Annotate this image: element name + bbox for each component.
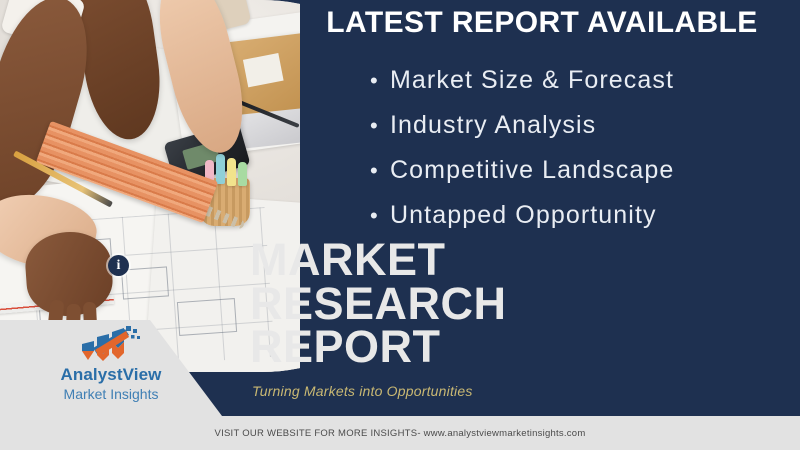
report-title-line: REPORT (250, 325, 507, 369)
bar-chart-arrow-icon (79, 324, 143, 364)
logo-tagline: Market Insights (64, 386, 159, 402)
logo-name: AnalystView (61, 365, 162, 385)
floorplan-room (121, 266, 169, 299)
list-item: Competitive Landscape (370, 148, 790, 193)
feature-list: Market Size & Forecast Industry Analysis… (370, 58, 790, 238)
notebook-label (243, 53, 284, 87)
marker (216, 154, 225, 184)
info-icon: i (108, 255, 129, 276)
page-title: LATEST REPORT AVAILABLE (296, 6, 788, 40)
floorplan-room (177, 298, 237, 336)
marker (238, 162, 247, 186)
report-title: MARKET RESEARCH REPORT (250, 238, 507, 369)
info-glyph: i (117, 258, 121, 274)
marketing-banner: i LATEST REPORT AVAILABLE Market Size & … (0, 0, 800, 450)
footer-website-text: VISIT OUR WEBSITE FOR MORE INSIGHTS- www… (215, 428, 586, 439)
report-title-line: MARKET (250, 238, 507, 282)
brand-tagline: Turning Markets into Opportunities (252, 383, 473, 399)
footer-bar: VISIT OUR WEBSITE FOR MORE INSIGHTS- www… (0, 416, 800, 450)
list-item: Industry Analysis (370, 103, 790, 148)
report-title-line: RESEARCH (250, 282, 507, 326)
marker (227, 158, 236, 186)
list-item: Market Size & Forecast (370, 58, 790, 103)
list-item: Untapped Opportunity (370, 193, 790, 238)
